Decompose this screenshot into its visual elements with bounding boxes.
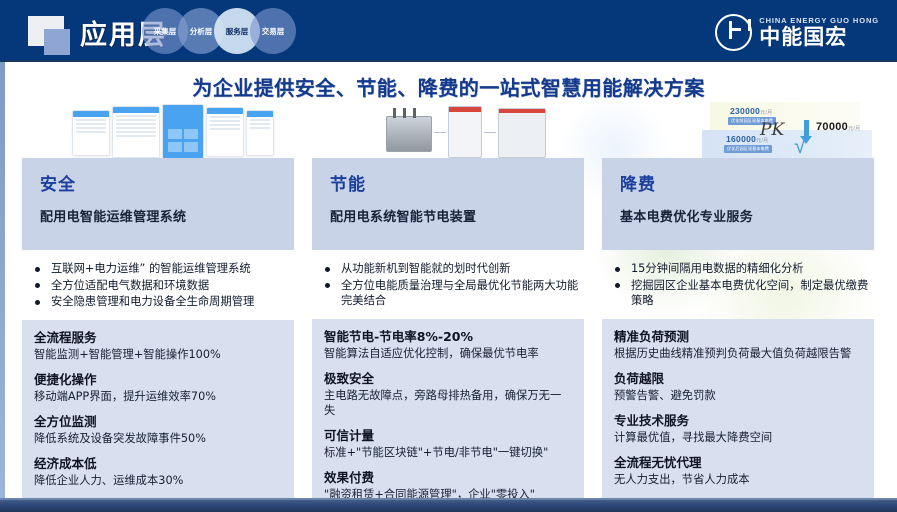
column-category: 安全 xyxy=(40,170,278,195)
feature-item: 专业技术服务 计算最优值，寻找最大降费空间 xyxy=(614,413,862,445)
venn-label-3: 交易层 xyxy=(262,26,285,37)
feature-item: 可信计量 标准+"节能区块链"+节电/非节电"一键切换" xyxy=(324,428,572,460)
phone-mockup xyxy=(206,107,244,157)
column-title-box: 降费 基本电费优化专业服务 xyxy=(602,158,874,250)
list-item: 15分钟间隔用电数据的精细化分析 xyxy=(612,261,870,277)
feature-title: 专业技术服务 xyxy=(614,413,862,429)
layer-venn-diagram: 采集层 分析层 服务层 交易层 xyxy=(142,8,312,56)
feature-item: 智能节电-节电率8%-20% 智能算法自适应优化控制，确保最优节电率 xyxy=(324,329,572,361)
feature-desc: 智能算法自适应优化控制，确保最优节电率 xyxy=(324,346,572,361)
logo-square-small-icon xyxy=(44,29,70,55)
ring-logo-icon xyxy=(715,14,752,51)
feature-desc: 计算最优值，寻找最大降费空间 xyxy=(614,430,862,445)
pk-saving-unit: 元/月 xyxy=(848,126,860,132)
feature-item: 全方位监测 降低系统及设备突发故障事件50% xyxy=(34,414,282,446)
list-item: 互联网+电力运维” 的智能运维管理系统 xyxy=(32,261,290,277)
cabinet-icon xyxy=(448,106,482,158)
phone-mockup xyxy=(162,104,204,160)
feature-item: 负荷越限 预警告警、避免罚款 xyxy=(614,371,862,403)
pk-tag-after: 优化后园区现基本电费 xyxy=(724,145,772,153)
check-mark-icon: √ xyxy=(794,135,806,157)
hero-pk-comparison: 230000元/月 优化前园区现基本电费 160000元/月 优化后园区现基本电… xyxy=(602,104,874,158)
pk-value-after-number: 160000 xyxy=(726,134,756,144)
page-title: 为企业提供安全、节能、降费的一站式智慧用能解决方案 xyxy=(0,72,897,101)
feature-item: 效果付费 "融资租赁+合同能源管理"，企业"零投入" xyxy=(324,470,572,502)
column-subtitle: 基本电费优化专业服务 xyxy=(620,206,858,225)
pk-saving-value: 70000元/月 xyxy=(816,121,860,133)
feature-desc: 移动端APP界面，提升运维效率70% xyxy=(34,389,282,404)
switchgear-icon xyxy=(498,108,546,158)
column-bullet-list: 互联网+电力运维” 的智能运维管理系统 全方位适配电气数据和环境数据 安全隐患管… xyxy=(22,261,294,310)
column-category: 降费 xyxy=(620,170,858,195)
feature-desc: 预警告警、避免罚款 xyxy=(614,388,862,403)
feature-item: 全流程服务 智能监测+智能管理+智能操作100% xyxy=(34,330,282,362)
company-brand: CHINA ENERGY GUO HONG 中能国宏 xyxy=(715,13,879,51)
feature-title: 便捷化操作 xyxy=(34,372,282,388)
pk-label: PK xyxy=(760,120,784,140)
hero-mobile-app-screens xyxy=(22,104,294,158)
hero-equipment xyxy=(312,104,584,158)
pk-value-before-number: 230000 xyxy=(730,106,760,116)
feature-desc: 主电路无故障点，旁路母排热备用，确保万无一失 xyxy=(324,388,572,418)
feature-item: 精准负荷预测 根据历史曲线精准预判负荷最大值负荷越限告警 xyxy=(614,329,862,361)
feature-title: 可信计量 xyxy=(324,428,572,444)
venn-label-0: 采集层 xyxy=(154,26,177,37)
pk-saving-number: 70000 xyxy=(816,121,848,133)
slide-root: 应用层 采集层 分析层 服务层 交易层 CHINA ENERGY GUO HON… xyxy=(0,0,897,512)
list-item: 全方位电能质量治理与全局最优化节能两大功能完美结合 xyxy=(322,278,580,309)
column-category: 节能 xyxy=(330,170,568,195)
column-bullet-list: 15分钟间隔用电数据的精细化分析 挖掘园区企业基本电费优化空间，制定最优缴费策略 xyxy=(602,261,874,309)
pk-comparison-graphic: 230000元/月 优化前园区现基本电费 160000元/月 优化后园区现基本电… xyxy=(702,102,872,160)
feature-title: 全流程服务 xyxy=(34,330,282,346)
brand-text-group: CHINA ENERGY GUO HONG 中能国宏 xyxy=(759,16,879,48)
feature-title: 全流程无忧代理 xyxy=(614,455,862,471)
feature-title: 精准负荷预测 xyxy=(614,329,862,345)
venn-circle-trading[interactable]: 交易层 xyxy=(250,8,296,54)
feature-desc: 无人力支出，节省人力成本 xyxy=(614,472,862,487)
equipment-illustration-icon xyxy=(386,106,546,158)
column-security: 安全 配用电智能运维管理系统 互联网+电力运维” 的智能运维管理系统 全方位适配… xyxy=(22,104,294,512)
column-title-box: 节能 配用电系统智能节电装置 xyxy=(312,158,584,250)
phone-mockup xyxy=(246,110,274,156)
feature-title: 负荷越限 xyxy=(614,371,862,387)
column-cost-reduction: 230000元/月 优化前园区现基本电费 160000元/月 优化后园区现基本电… xyxy=(602,104,874,512)
feature-item: 全流程无忧代理 无人力支出，节省人力成本 xyxy=(614,455,862,487)
brand-name-en: CHINA ENERGY GUO HONG xyxy=(759,16,879,25)
feature-desc: 根据历史曲线精准预判负荷最大值负荷越限告警 xyxy=(614,346,862,361)
feature-desc: 标准+"节能区块链"+节电/非节电"一键切换" xyxy=(324,445,572,460)
phone-mockups-icon xyxy=(72,104,272,158)
feature-item: 便捷化操作 移动端APP界面，提升运维效率70% xyxy=(34,372,282,404)
feature-title: 效果付费 xyxy=(324,470,572,486)
solution-columns: 安全 配用电智能运维管理系统 互联网+电力运维” 的智能运维管理系统 全方位适配… xyxy=(0,104,897,496)
feature-desc: 降低系统及设备突发故障事件50% xyxy=(34,431,282,446)
pk-unit-before: 元/月 xyxy=(760,110,772,116)
list-item: 安全隐患管理和电力设备全生命周期管理 xyxy=(32,294,290,310)
feature-title: 智能节电-节电率8%-20% xyxy=(324,329,572,345)
brand-name-cn: 中能国宏 xyxy=(759,27,879,48)
column-feature-panel: 精准负荷预测 根据历史曲线精准预判负荷最大值负荷越限告警 负荷越限 预警告警、避… xyxy=(602,319,874,512)
column-feature-panel: 全流程服务 智能监测+智能管理+智能操作100% 便捷化操作 移动端APP界面，… xyxy=(22,320,294,512)
feature-desc: 智能监测+智能管理+智能操作100% xyxy=(34,347,282,362)
column-bullet-list: 从功能新机到智能就的划时代创新 全方位电能质量治理与全局最优化节能两大功能完美结… xyxy=(312,261,584,309)
phone-mockup xyxy=(112,106,160,158)
venn-label-1: 分析层 xyxy=(190,26,213,37)
column-energy-saving: 节能 配用电系统智能节电装置 从功能新机到智能就的划时代创新 全方位电能质量治理… xyxy=(312,104,584,512)
column-feature-panel: 智能节电-节电率8%-20% 智能算法自适应优化控制，确保最优节电率 极致安全 … xyxy=(312,319,584,512)
column-subtitle: 配用电智能运维管理系统 xyxy=(40,206,278,225)
column-subtitle: 配用电系统智能节电装置 xyxy=(330,206,568,225)
list-item: 挖掘园区企业基本电费优化空间，制定最优缴费策略 xyxy=(612,278,870,309)
transformer-icon xyxy=(386,116,432,152)
feature-title: 经济成本低 xyxy=(34,456,282,472)
pk-value-before: 230000元/月 xyxy=(730,106,772,116)
feature-item: 极致安全 主电路无故障点，旁路母排热备用，确保万无一失 xyxy=(324,371,572,418)
feature-item: 经济成本低 降低企业人力、运维成本30% xyxy=(34,456,282,488)
feature-title: 极致安全 xyxy=(324,371,572,387)
phone-mockup xyxy=(72,110,110,156)
feature-title: 全方位监测 xyxy=(34,414,282,430)
header-bar: 应用层 采集层 分析层 服务层 交易层 CHINA ENERGY GUO HON… xyxy=(0,0,897,62)
feature-desc: 降低企业人力、运维成本30% xyxy=(34,473,282,488)
list-item: 全方位适配电气数据和环境数据 xyxy=(32,278,290,294)
venn-label-2: 服务层 xyxy=(226,26,249,37)
bottom-accent-bar xyxy=(0,498,897,512)
list-item: 从功能新机到智能就的划时代创新 xyxy=(322,261,580,277)
column-title-box: 安全 配用电智能运维管理系统 xyxy=(22,158,294,250)
